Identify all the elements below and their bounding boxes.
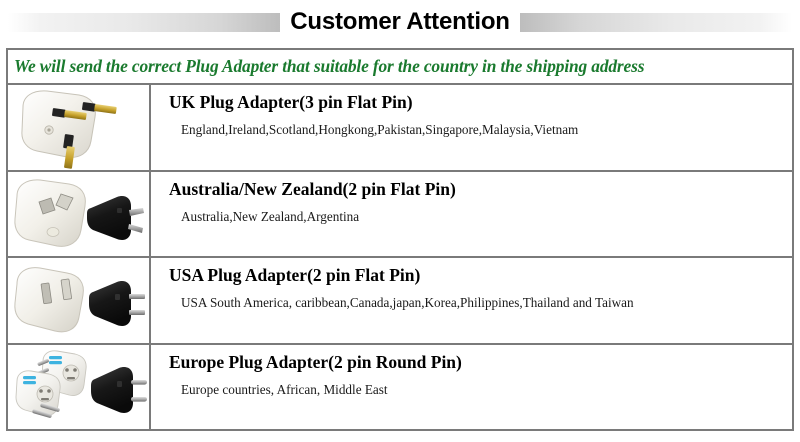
adapter-countries: Australia,New Zealand,Argentina <box>169 209 792 225</box>
australia-plug-adapter-image-cell <box>8 172 151 257</box>
europe-plug-adapter-text-cell: Europe Plug Adapter(2 pin Round Pin) Eur… <box>151 345 792 430</box>
adapter-title: UK Plug Adapter(3 pin Flat Pin) <box>169 92 792 112</box>
europe-plug-adapter-image <box>9 345 149 429</box>
table-row: UK Plug Adapter(3 pin Flat Pin) England,… <box>8 85 792 172</box>
shipping-notice-row: We will send the correct Plug Adapter th… <box>8 50 792 85</box>
shipping-notice-text: We will send the correct Plug Adapter th… <box>14 56 644 77</box>
adapter-title: Australia/New Zealand(2 pin Flat Pin) <box>169 179 792 199</box>
adapter-countries: England,Ireland,Scotland,Hongkong,Pakist… <box>169 122 792 138</box>
page-header: Customer Attention <box>0 0 800 44</box>
table-row: Europe Plug Adapter(2 pin Round Pin) Eur… <box>8 345 792 432</box>
table-row: Australia/New Zealand(2 pin Flat Pin) Au… <box>8 172 792 259</box>
usa-plug-adapter-text-cell: USA Plug Adapter(2 pin Flat Pin) USA Sou… <box>151 258 792 343</box>
uk-plug-adapter-text-cell: UK Plug Adapter(3 pin Flat Pin) England,… <box>151 85 792 170</box>
header-gradient-bar-right <box>520 13 792 32</box>
adapter-countries: Europe countries, African, Middle East <box>169 382 792 398</box>
usa-plug-adapter-image-cell <box>8 258 151 343</box>
table-row: USA Plug Adapter(2 pin Flat Pin) USA Sou… <box>8 258 792 345</box>
europe-plug-adapter-image-cell <box>8 345 151 430</box>
uk-plug-adapter-image-cell <box>8 85 151 170</box>
adapter-title: USA Plug Adapter(2 pin Flat Pin) <box>169 265 792 285</box>
plug-adapter-table: We will send the correct Plug Adapter th… <box>6 48 794 431</box>
header-gradient-bar-left <box>8 13 280 32</box>
adapter-countries: USA South America, caribbean,Canada,japa… <box>169 295 792 311</box>
page-title: Customer Attention <box>290 10 510 34</box>
australia-plug-adapter-image <box>9 172 149 256</box>
usa-plug-adapter-image <box>9 258 149 342</box>
adapter-title: Europe Plug Adapter(2 pin Round Pin) <box>169 352 792 372</box>
uk-plug-adapter-image <box>9 85 149 169</box>
australia-plug-adapter-text-cell: Australia/New Zealand(2 pin Flat Pin) Au… <box>151 172 792 257</box>
